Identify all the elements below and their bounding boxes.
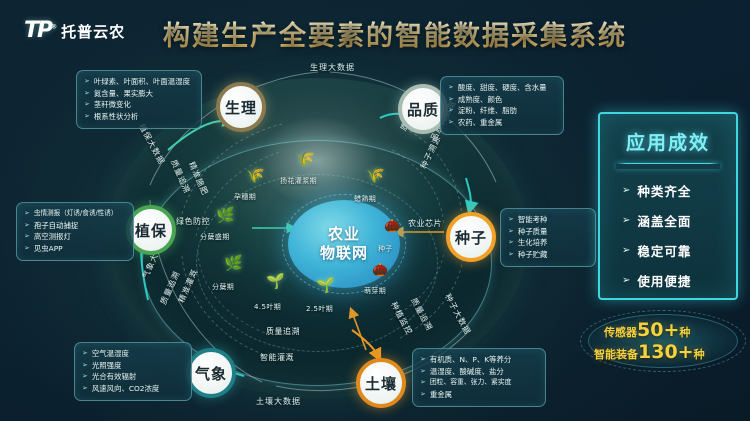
- list-item: ➢见虫APP: [24, 243, 126, 255]
- arrow-bullet-icon: ➢: [420, 366, 426, 378]
- arrow-bullet-icon: ➢: [508, 237, 514, 249]
- list-item: ➢叶绿素、叶面积、叶面温湿度: [84, 76, 194, 88]
- stage-label-lashu: 蜡熟期: [354, 194, 376, 204]
- spoke-label-green-control: 绿色防控: [176, 216, 210, 227]
- list-item: ➢种类齐全: [622, 181, 736, 200]
- infobox-text: 团粒、容重、张力、紧实度: [430, 377, 512, 389]
- application-results-list: ➢种类齐全 ➢涵盖全面 ➢稳定可靠 ➢使用便捷: [600, 181, 736, 290]
- stage-icon-lashu: 🌾: [366, 168, 385, 183]
- arrow-bullet-icon: ➢: [420, 377, 426, 389]
- arrow-bullet-icon: ➢: [24, 208, 30, 220]
- arrow-bullet-icon: ➢: [82, 383, 88, 395]
- infobox-weather: ➢空气温湿度 ➢光照强度 ➢光合有效辐射 ➢风速风向、CO2浓度: [74, 342, 192, 401]
- brand-logo: TP® 托普云农: [24, 20, 125, 42]
- logo-mark-icon: TP®: [24, 20, 55, 42]
- infobox-text: 空气温湿度: [92, 348, 129, 360]
- list-item: ➢种子贮藏: [508, 249, 588, 261]
- stage-icon-seed: 🌰: [384, 220, 400, 233]
- list-item: ➢稳定可靠: [622, 241, 736, 260]
- list-item: ➢酸度、甜度、硬度、含水量: [448, 82, 556, 94]
- infobox-text: 光照强度: [92, 360, 122, 372]
- stage-icon-fenniesheng: 🌿: [216, 208, 235, 223]
- stage-icon-yunsui: 🌾: [246, 168, 265, 183]
- core-line-2: 物联网: [320, 244, 368, 263]
- list-item: ➢生化培养: [508, 237, 588, 249]
- node-seed[interactable]: 种子: [446, 212, 496, 262]
- infobox-text: 高空测报灯: [34, 231, 71, 243]
- list-item: ➢重金属: [420, 389, 538, 401]
- list-item: ➢氮含量、果实膨大: [84, 88, 194, 100]
- list-item: ➢光照强度: [82, 360, 184, 372]
- slide-canvas: TP® 托普云农 构建生产全要素的智能数据采集系统: [0, 0, 750, 421]
- application-results-title: 应用成效: [600, 128, 736, 155]
- infobox-text: 有机质、N、P、K等养分: [430, 354, 511, 366]
- stage-label-25leaf: 2.5叶期: [306, 304, 333, 314]
- arrow-bullet-icon: ➢: [448, 82, 454, 94]
- infobox-text: 淀粉、纤维、脂肪: [458, 105, 517, 117]
- list-item: ➢种子质量: [508, 226, 588, 238]
- arrow-bullet-icon: ➢: [622, 185, 631, 196]
- list-item: ➢孢子自动捕捉: [24, 220, 126, 232]
- arrow-bullet-icon: ➢: [622, 215, 631, 226]
- list-item: ➢虫情测报（灯诱/食诱/性诱）: [24, 208, 126, 220]
- spoke-label-agri-chip: 农业芯片: [408, 218, 442, 229]
- list-item: ➢空气温湿度: [82, 348, 184, 360]
- node-physiology-label: 生理: [225, 97, 257, 118]
- infobox-text: 茎秆微变化: [94, 99, 131, 111]
- list-item: ➢农药、重金属: [448, 117, 556, 129]
- node-quality-label: 品质: [407, 99, 439, 120]
- list-item: ➢淀粉、纤维、脂肪: [448, 105, 556, 117]
- stage-label-yanghua: 扬花灌浆期: [280, 176, 317, 186]
- stage-label-mengya: 萌芽期: [364, 286, 386, 296]
- list-item: ➢温湿度、酸碱度、盐分: [420, 366, 538, 378]
- infobox-text: 见虫APP: [34, 243, 63, 255]
- arrow-bullet-icon: ➢: [82, 360, 88, 372]
- arc-label-bottom: 土壤大数据: [256, 396, 301, 407]
- stat-equipment: 智能装备130+种: [594, 341, 705, 363]
- result-text: 稳定可靠: [637, 241, 691, 260]
- stage-icon-fennie: 🌿: [224, 256, 243, 271]
- infobox-protection: ➢虫情测报（灯诱/食诱/性诱） ➢孢子自动捕捉 ➢高空测报灯 ➢见虫APP: [16, 202, 134, 261]
- arrow-bullet-icon: ➢: [84, 76, 90, 88]
- arrow-bullet-icon: ➢: [24, 220, 30, 232]
- infobox-text: 成熟度、颜色: [458, 94, 502, 106]
- result-text: 使用便捷: [637, 271, 691, 290]
- arrow-bullet-icon: ➢: [24, 243, 30, 255]
- result-text: 种类齐全: [637, 181, 691, 200]
- spoke-label-quality-trace: 质量追溯: [266, 326, 300, 337]
- stage-label-seed: 种子: [378, 244, 393, 254]
- stage-label-45leaf: 4.5叶期: [254, 302, 281, 312]
- stage-icon-45leaf: 🌱: [266, 274, 285, 289]
- infobox-text: 酸度、甜度、硬度、含水量: [458, 82, 547, 94]
- infobox-text: 光合有效辐射: [92, 371, 136, 383]
- arrow-bullet-icon: ➢: [82, 348, 88, 360]
- node-soil-label: 土壤: [365, 373, 397, 394]
- node-physiology[interactable]: 生理: [216, 82, 266, 132]
- infobox-text: 智能考种: [518, 214, 548, 226]
- arrow-bullet-icon: ➢: [448, 94, 454, 106]
- arrow-bullet-icon: ➢: [84, 99, 90, 111]
- infobox-text: 种子质量: [518, 226, 548, 238]
- infobox-text: 氮含量、果实膨大: [94, 88, 153, 100]
- stat-sensors-label: 传感器: [604, 326, 637, 339]
- infobox-text: 叶绿素、叶面积、叶面温湿度: [94, 76, 190, 88]
- stats-badge-group: 传感器50+种 智能装备130+种: [580, 310, 746, 372]
- arrow-bullet-icon: ➢: [84, 88, 90, 100]
- stat-equipment-unit: 种: [694, 348, 705, 361]
- application-results-panel: 应用成效 ➢种类齐全 ➢涵盖全面 ➢稳定可靠 ➢使用便捷: [598, 112, 738, 300]
- arc-label-top: 生理大数据: [310, 62, 355, 73]
- infobox-text: 虫情测报（灯诱/食诱/性诱）: [34, 208, 118, 220]
- stage-label-fennie: 分蘖期: [212, 282, 234, 292]
- list-item: ➢成熟度、颜色: [448, 94, 556, 106]
- stat-sensors: 传感器50+种: [604, 319, 690, 341]
- arrow-bullet-icon: ➢: [622, 245, 631, 256]
- panel-divider: [616, 163, 720, 169]
- arrow-bullet-icon: ➢: [448, 105, 454, 117]
- stat-sensors-unit: 种: [679, 326, 690, 339]
- stage-label-yunsui: 孕穗期: [234, 192, 256, 202]
- list-item: ➢有机质、N、P、K等养分: [420, 354, 538, 366]
- spoke-label-smart-irrigation: 智能灌溉: [260, 352, 294, 363]
- registered-mark-icon: ®: [51, 24, 55, 31]
- stage-label-fenniesheng: 分蘖盛期: [200, 232, 230, 242]
- stage-icon-yanghua: 🌾: [296, 152, 315, 167]
- result-text: 涵盖全面: [637, 211, 691, 230]
- arrow-bullet-icon: ➢: [82, 371, 88, 383]
- infobox-text: 农药、重金属: [458, 117, 502, 129]
- arrow-bullet-icon: ➢: [24, 231, 30, 243]
- core-line-1: 农业: [328, 225, 360, 244]
- stat-equipment-label: 智能装备: [594, 348, 638, 361]
- page-title: 构建生产全要素的智能数据采集系统: [150, 14, 640, 53]
- stage-icon-mengya: 🌰: [372, 264, 388, 277]
- node-seed-label: 种子: [455, 227, 487, 248]
- arrow-bullet-icon: ➢: [420, 389, 426, 401]
- arrow-bullet-icon: ➢: [420, 354, 426, 366]
- infobox-physiology: ➢叶绿素、叶面积、叶面温湿度 ➢氮含量、果实膨大 ➢茎秆微变化 ➢根系性状分析: [76, 70, 202, 129]
- arrow-bullet-icon: ➢: [508, 249, 514, 261]
- stat-sensors-number: 50+: [637, 319, 679, 341]
- infobox-text: 重金属: [430, 389, 452, 401]
- infobox-quality: ➢酸度、甜度、硬度、含水量 ➢成熟度、颜色 ➢淀粉、纤维、脂肪 ➢农药、重金属: [440, 76, 564, 135]
- node-weather-label: 气象: [195, 363, 227, 384]
- infobox-seed: ➢智能考种 ➢种子质量 ➢生化培养 ➢种子贮藏: [500, 208, 596, 267]
- list-item: ➢智能考种: [508, 214, 588, 226]
- list-item: ➢涵盖全面: [622, 211, 736, 230]
- infobox-text: 生化培养: [518, 237, 548, 249]
- infobox-text: 孢子自动捕捉: [34, 220, 78, 232]
- arrow-bullet-icon: ➢: [508, 214, 514, 226]
- stat-equipment-number: 130+: [638, 341, 694, 363]
- list-item: ➢团粒、容重、张力、紧实度: [420, 377, 538, 389]
- arrow-bullet-icon: ➢: [622, 275, 631, 286]
- infobox-text: 根系性状分析: [94, 111, 138, 123]
- list-item: ➢使用便捷: [622, 271, 736, 290]
- infobox-text: 种子贮藏: [518, 249, 548, 261]
- arrow-bullet-icon: ➢: [448, 117, 454, 129]
- list-item: ➢高空测报灯: [24, 231, 126, 243]
- node-soil[interactable]: 土壤: [356, 358, 406, 408]
- stage-icon-25leaf: 🌱: [316, 278, 335, 293]
- infobox-text: 温湿度、酸碱度、盐分: [430, 366, 504, 378]
- infobox-soil: ➢有机质、N、P、K等养分 ➢温湿度、酸碱度、盐分 ➢团粒、容重、张力、紧实度 …: [412, 348, 546, 407]
- arrow-bullet-icon: ➢: [508, 226, 514, 238]
- list-item: ➢茎秆微变化: [84, 99, 194, 111]
- arrow-bullet-icon: ➢: [84, 111, 90, 123]
- list-item: ➢光合有效辐射: [82, 371, 184, 383]
- list-item: ➢风速风向、CO2浓度: [82, 383, 184, 395]
- brand-name: 托普云农: [61, 21, 125, 42]
- node-protection-label: 植保: [135, 220, 167, 241]
- list-item: ➢根系性状分析: [84, 111, 194, 123]
- infobox-text: 风速风向、CO2浓度: [92, 383, 159, 395]
- node-weather[interactable]: 气象: [186, 348, 236, 398]
